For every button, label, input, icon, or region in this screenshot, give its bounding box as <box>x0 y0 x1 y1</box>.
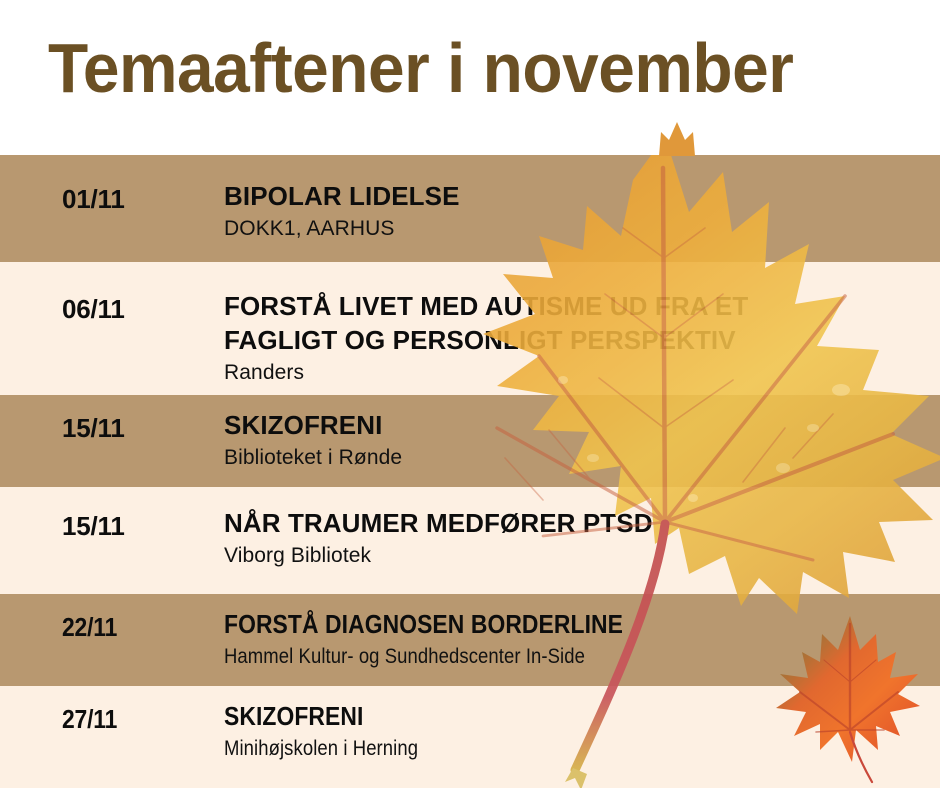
row-body: FORSTÅ LIVET MED AUTISME UD FRA ET FAGLI… <box>224 289 930 387</box>
row-date: 15/11 <box>62 413 125 444</box>
row-body: SKIZOFRENI Biblioteket i Rønde <box>224 408 930 472</box>
row-venue: Biblioteket i Rønde <box>224 444 930 472</box>
row-venue: Minihøjskolen i Herning <box>224 735 845 763</box>
row-venue: Hammel Kultur- og Sundhedscenter In-Side <box>224 643 845 671</box>
row-date: 22/11 <box>62 612 117 643</box>
row-date: 15/11 <box>62 511 125 542</box>
row-title: NÅR TRAUMER MEDFØRER PTSD <box>224 506 930 540</box>
row-title: FORSTÅ LIVET MED AUTISME UD FRA ET FAGLI… <box>224 289 930 357</box>
row-title: SKIZOFRENI <box>224 408 930 442</box>
row-body: SKIZOFRENI Minihøjskolen i Herning <box>224 699 930 763</box>
schedule-row: 22/11 FORSTÅ DIAGNOSEN BORDERLINE Hammel… <box>0 594 940 686</box>
row-title: SKIZOFRENI <box>224 699 845 733</box>
poster-canvas: 01/11 BIPOLAR LIDELSE DOKK1, AARHUS 06/1… <box>0 0 940 788</box>
schedule-row: 15/11 SKIZOFRENI Biblioteket i Rønde <box>0 395 940 487</box>
row-venue: Randers <box>224 359 930 387</box>
page-title: Temaaftener i november <box>48 29 793 107</box>
row-venue: Viborg Bibliotek <box>224 542 930 570</box>
row-venue: DOKK1, AARHUS <box>224 215 930 243</box>
poster-header: Temaaftener i november <box>0 0 940 155</box>
row-date: 06/11 <box>62 294 125 325</box>
schedule-row: 06/11 FORSTÅ LIVET MED AUTISME UD FRA ET… <box>0 262 940 395</box>
row-date: 01/11 <box>62 184 125 215</box>
row-title: BIPOLAR LIDELSE <box>224 179 930 213</box>
row-body: NÅR TRAUMER MEDFØRER PTSD Viborg Bibliot… <box>224 506 930 570</box>
schedule-row: 01/11 BIPOLAR LIDELSE DOKK1, AARHUS <box>0 155 940 262</box>
row-body: FORSTÅ DIAGNOSEN BORDERLINE Hammel Kultu… <box>224 607 930 671</box>
schedule-row: 15/11 NÅR TRAUMER MEDFØRER PTSD Viborg B… <box>0 487 940 594</box>
schedule-row: 27/11 SKIZOFRENI Minihøjskolen i Herning <box>0 686 940 788</box>
row-date: 27/11 <box>62 704 117 735</box>
row-title: FORSTÅ DIAGNOSEN BORDERLINE <box>224 607 845 641</box>
row-body: BIPOLAR LIDELSE DOKK1, AARHUS <box>224 179 930 243</box>
